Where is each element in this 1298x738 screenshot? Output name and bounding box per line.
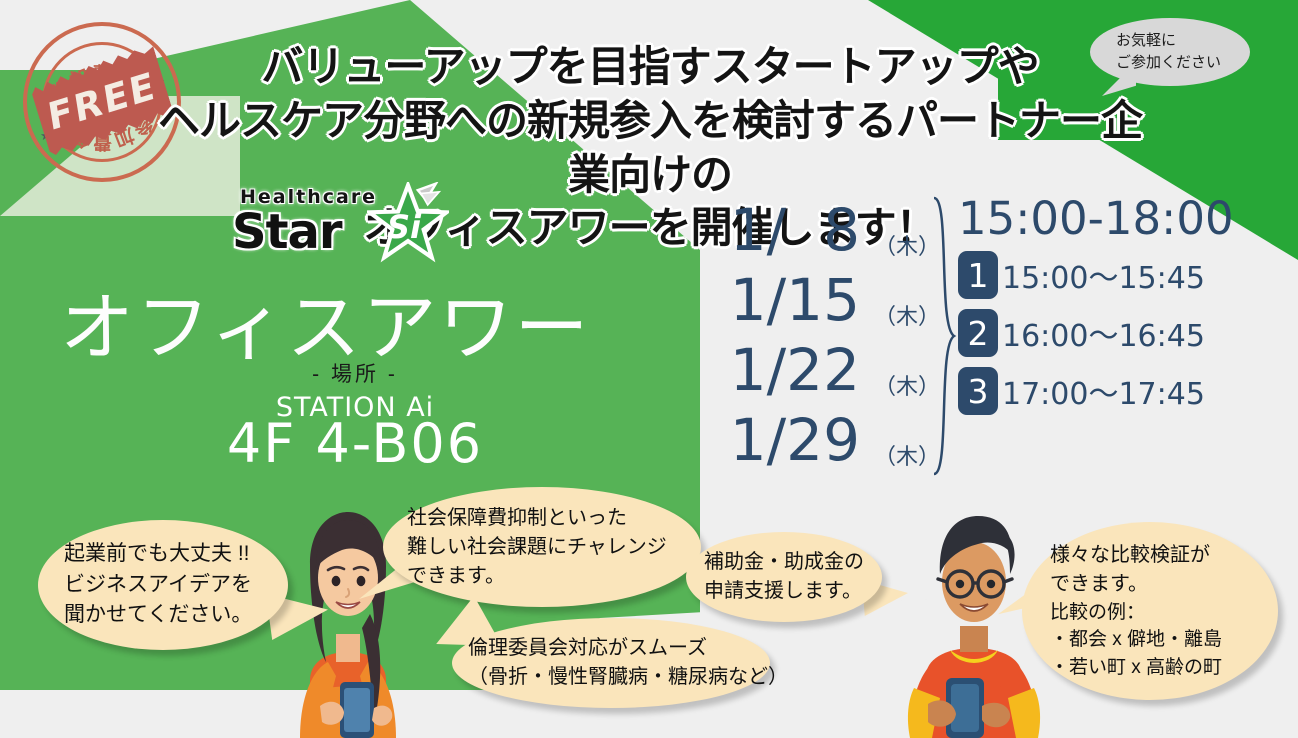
bubble-text: 補助金・助成金の 申請支援します。 [686,532,882,622]
bubble-line: ・若い町 x 高齢の町 [1050,654,1278,682]
bubble-text: 起業前でも大丈夫 !! ビジネスアイデアを 聞かせてください。 [38,520,288,650]
bubble-line: 様々な比較検証が [1050,541,1278,570]
date-value: 1/ 8 [730,196,860,264]
bubble-line: 補助金・助成金の [704,548,882,577]
date-row: 1/29 （木） [690,406,940,476]
bubble-line: ・都会 x 僻地・離島 [1050,626,1278,654]
bubble-text: 社会保障費抑制といった 難しい社会課題にチャレンジ できます。 [383,487,701,607]
bubble-line: 比較の例： [1050,599,1278,627]
slot-label: 15:00〜15:45 [1002,253,1205,297]
date-row: 1/22 （木） [690,336,940,406]
healthcare-star-si-logo: Healthcare Star Si [232,186,442,266]
bubble-text: 倫理委員会対応がスムーズ （骨折・慢性腎臓病・糖尿病など） [452,618,770,708]
bubble-line: 申請支援します。 [704,577,882,606]
bubble-line: （骨折・慢性腎臓病・糖尿病など） [468,663,770,692]
time-slot: 3 17:00〜17:45 [958,367,1288,415]
bubble-line: 倫理委員会対応がスムーズ [468,634,770,663]
time-schedule: 15:00-18:00 1 15:00〜15:45 2 16:00〜16:45 … [958,196,1288,415]
slot-number: 1 [958,251,998,299]
venue-room: 4F 4-B06 [60,412,650,475]
date-list: 1/ 8 （木） 1/15 （木） 1/22 （木） 1/29 （木） [690,196,940,476]
slot-label: 17:00〜17:45 [1002,369,1205,413]
bubble-line: 起業前でも大丈夫 !! [64,539,288,569]
date-row: 1/ 8 （木） [690,196,940,266]
place-label: - 場所 - [60,358,650,388]
speech-bubble-social-challenge: 社会保障費抑制といった 難しい社会課題にチャレンジ できます。 [383,487,701,607]
speech-bubble-pre-founding: 起業前でも大丈夫 !! ビジネスアイデアを 聞かせてください。 [38,520,288,650]
slot-number: 2 [958,309,998,357]
date-row: 1/15 （木） [690,266,940,336]
headline-line-1: バリューアップを目指すスタートアップや [150,40,1150,94]
date-value: 1/29 [730,406,860,474]
time-slot: 2 16:00〜16:45 [958,309,1288,357]
bubble-text: 様々な比較検証が できます。 比較の例： ・都会 x 僻地・離島 ・若い町 x … [1022,522,1278,700]
date-value: 1/22 [730,336,860,404]
bubble-line: 社会保障費抑制といった [407,504,701,533]
bubble-line: 聞かせてください。 [64,600,288,630]
slot-label: 16:00〜16:45 [1002,311,1205,355]
bubble-line: できます。 [407,562,701,591]
date-value: 1/15 [730,266,860,334]
bubble-line: できます。 [1050,570,1278,599]
time-range: 15:00-18:00 [958,196,1288,241]
logo-si-text: Si [387,208,421,246]
slot-number: 3 [958,367,998,415]
curly-brace-icon [930,196,960,476]
time-slot: 1 15:00〜15:45 [958,251,1288,299]
speech-bubble-subsidy-support: 補助金・助成金の 申請支援します。 [686,532,882,622]
logo-star-text: Star [232,204,342,260]
bubble-line: ビジネスアイデアを [64,570,288,600]
speech-bubble-ethics-committee: 倫理委員会対応がスムーズ （骨折・慢性腎臓病・糖尿病など） [452,618,770,708]
speech-bubble-comparison-study: 様々な比較検証が できます。 比較の例： ・都会 x 僻地・離島 ・若い町 x … [1022,522,1278,700]
bubble-line: 難しい社会課題にチャレンジ [407,533,701,562]
poster-canvas: 参加費無料 参加費無料 ★ ★ FREE お気軽に ご参加ください バリューアッ… [0,0,1298,738]
